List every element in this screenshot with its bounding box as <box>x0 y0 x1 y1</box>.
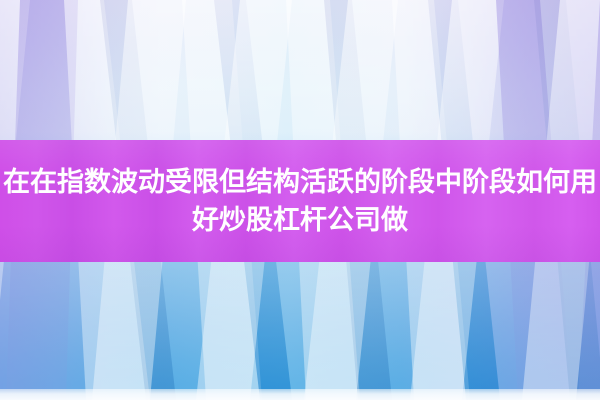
headline-line-2: 好炒股杠杆公司做 <box>192 201 408 239</box>
footer-light-strip <box>0 389 600 400</box>
headline-line-1: 在在指数波动受限但结构活跃的阶段中阶段如何用 <box>3 163 597 201</box>
headline-block: 在在指数波动受限但结构活跃的阶段中阶段如何用 好炒股杠杆公司做 <box>0 140 600 262</box>
gradient-banner: 在在指数波动受限但结构活跃的阶段中阶段如何用 好炒股杠杆公司做 <box>0 0 600 400</box>
